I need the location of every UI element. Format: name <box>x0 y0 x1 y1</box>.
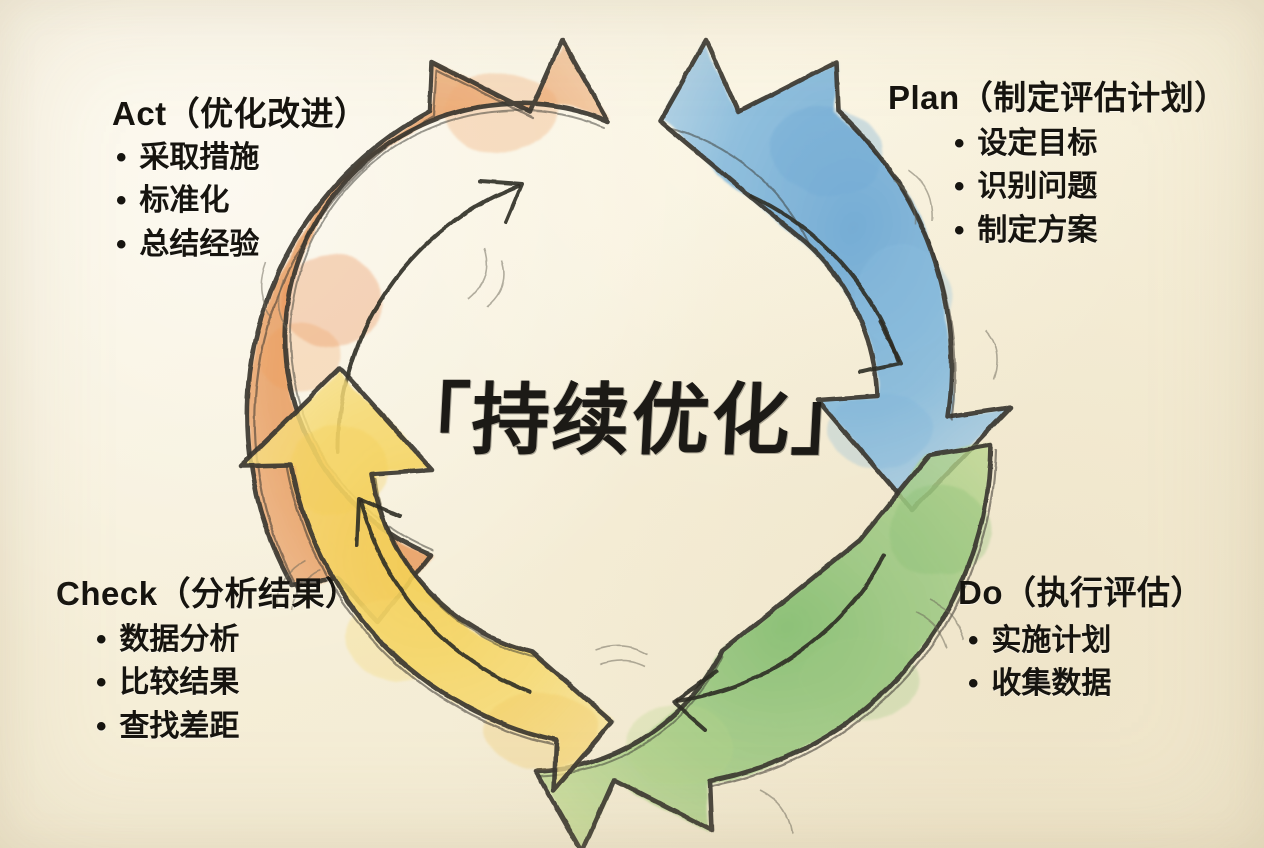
quadrant-plan-bullets: 设定目标 识别问题 制定方案 <box>954 122 1228 252</box>
list-item: 采取措施 <box>116 136 368 179</box>
list-item: 识别问题 <box>954 165 1228 208</box>
quadrant-act: Act（优化改进） 采取措施 标准化 总结经验 <box>112 96 368 266</box>
quadrant-do-heading: Do（执行评估） <box>958 575 1204 611</box>
center-title: 「持续优化」 <box>0 358 1264 470</box>
quadrant-plan-heading: Plan（制定评估计划） <box>888 80 1228 116</box>
quadrant-check-bullets: 数据分析 比较结果 查找差距 <box>96 618 359 748</box>
quadrant-act-bullets: 采取措施 标准化 总结经验 <box>116 136 368 266</box>
quadrant-act-heading: Act（优化改进） <box>112 96 368 132</box>
quadrant-check: Check（分析结果） 数据分析 比较结果 查找差距 <box>56 576 359 748</box>
quadrant-do: Do（执行评估） 实施计划 收集数据 <box>958 575 1204 706</box>
arrow-do <box>536 445 996 848</box>
list-item: 查找差距 <box>96 705 359 748</box>
list-item: 总结经验 <box>116 223 368 266</box>
quadrant-check-heading: Check（分析结果） <box>56 576 359 612</box>
quadrant-do-bullets: 实施计划 收集数据 <box>968 619 1204 705</box>
list-item: 实施计划 <box>968 619 1204 662</box>
quadrant-plan: Plan（制定评估计划） 设定目标 识别问题 制定方案 <box>888 80 1228 252</box>
list-item: 比较结果 <box>96 661 359 704</box>
list-item: 收集数据 <box>968 662 1204 705</box>
list-item: 设定目标 <box>954 122 1228 165</box>
list-item: 数据分析 <box>96 618 359 661</box>
pdca-diagram: 「持续优化」 Act（优化改进） 采取措施 标准化 总结经验 Plan（制定评估… <box>0 0 1264 848</box>
list-item: 制定方案 <box>954 209 1228 252</box>
list-item: 标准化 <box>116 179 368 222</box>
